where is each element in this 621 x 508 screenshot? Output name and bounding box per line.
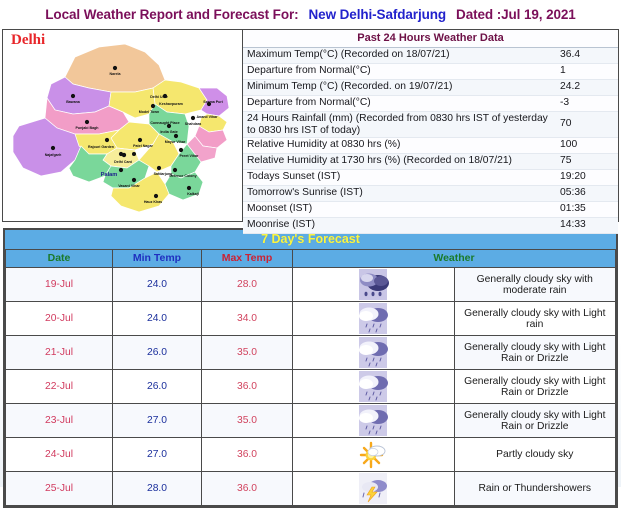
map-label: Bawana — [66, 100, 81, 104]
map-label: Palam — [101, 172, 118, 178]
data-row-value: 19:20 — [558, 171, 618, 183]
table-row: 20-Jul 24.0 34.0 — [6, 302, 616, 336]
past-24h-heading: Past 24 Hours Weather Data — [243, 30, 618, 48]
data-row: Relative Humidity at 0830 hrs (%) 100 — [243, 138, 618, 154]
data-row-value: 36.4 — [558, 49, 618, 61]
table-row: 25-Jul 28.0 36.0 — [6, 472, 616, 506]
map-label: Patel Nagar — [133, 144, 153, 148]
data-row-label: Todays Sunset (IST) — [243, 171, 558, 183]
light-rain-cloud-icon — [356, 303, 390, 334]
map-label: India Gate — [160, 130, 177, 134]
cell-date: 25-Jul — [6, 472, 113, 506]
map-label: Najafgarh — [45, 153, 62, 157]
cell-max-temp: 35.0 — [202, 404, 293, 438]
data-row: Relative Humidity at 1730 hrs (%) (Recor… — [243, 154, 618, 170]
cell-weather-description: Generally cloudy sky with Light Rain or … — [454, 336, 616, 370]
cell-min-temp: 28.0 — [113, 472, 202, 506]
cell-date: 19-Jul — [6, 268, 113, 302]
table-row: 19-Jul 24.0 28.0 — [6, 268, 616, 302]
cell-min-temp: 24.0 — [113, 268, 202, 302]
data-row-value: 100 — [558, 139, 618, 151]
data-row-label: Moonset (IST) — [243, 203, 558, 215]
cell-date: 21-Jul — [6, 336, 113, 370]
cell-weather-icon — [293, 370, 455, 404]
data-row-value: 75 — [558, 155, 618, 167]
map-label: Narela — [110, 72, 122, 76]
cell-min-temp: 27.0 — [113, 404, 202, 438]
data-row: 24 Hours Rainfall (mm) (Recorded from 08… — [243, 112, 618, 138]
cell-weather-icon — [293, 336, 455, 370]
data-row: Departure from Normal(°C) 1 — [243, 64, 618, 80]
map-label: Delhi Cant — [114, 160, 133, 164]
data-row-value: -3 — [558, 97, 618, 109]
column-header-date: Date — [6, 250, 113, 268]
cell-max-temp: 36.0 — [202, 370, 293, 404]
past-24h-panel: Past 24 Hours Weather Data Maximum Temp(… — [243, 29, 619, 222]
data-row-value: 14:33 — [558, 219, 618, 231]
cell-min-temp: 26.0 — [113, 370, 202, 404]
data-row-label: Moonrise (IST) — [243, 219, 558, 231]
data-row: Todays Sunset (IST) 19:20 — [243, 170, 618, 186]
data-row-label: Departure from Normal(°C) — [243, 65, 558, 77]
cell-weather-icon — [293, 268, 455, 302]
cell-date: 23-Jul — [6, 404, 113, 438]
cell-weather-icon — [293, 472, 455, 506]
upper-panel: Delhi — [2, 29, 619, 222]
cell-weather-icon — [293, 302, 455, 336]
data-row-value: 24.2 — [558, 81, 618, 93]
sun-cloud-icon — [356, 439, 390, 470]
cell-weather-description: Generally cloudy sky with Light Rain or … — [454, 370, 616, 404]
forecast-panel: 7 Day's Forecast Date Min Temp Max Temp … — [3, 228, 618, 508]
light-rain-cloud-icon — [356, 337, 390, 368]
data-row: Departure from Normal(°C) -3 — [243, 96, 618, 112]
data-row-label: Relative Humidity at 0830 hrs (%) — [243, 139, 558, 151]
map-label: Anand Vihar — [196, 115, 218, 119]
forecast-body: 19-Jul 24.0 28.0 — [6, 268, 616, 506]
cell-date: 22-Jul — [6, 370, 113, 404]
map-label: Defence Colony — [169, 174, 196, 178]
cell-min-temp: 26.0 — [113, 336, 202, 370]
map-label: Model Town — [139, 110, 160, 114]
cell-min-temp: 27.0 — [113, 438, 202, 472]
data-row-value: 1 — [558, 65, 618, 77]
table-row: 23-Jul 27.0 35.0 — [6, 404, 616, 438]
heavy-rain-cloud-icon — [356, 269, 390, 300]
cell-max-temp: 34.0 — [202, 302, 293, 336]
map-title: Delhi — [11, 32, 45, 49]
cell-weather-description: Generally cloudy sky with Light Rain or … — [454, 404, 616, 438]
map-label: Punjabi Bagh — [76, 126, 99, 130]
cell-date: 20-Jul — [6, 302, 113, 336]
cell-weather-description: Generally cloudy sky with moderate rain — [454, 268, 616, 302]
map-label: Mayur Vihar — [165, 140, 186, 144]
forecast-header-row: Date Min Temp Max Temp Weather — [6, 250, 616, 268]
cell-max-temp: 28.0 — [202, 268, 293, 302]
station-name: New Delhi-Safdarjung — [309, 7, 447, 22]
map-label: Keshavpuram — [159, 102, 183, 106]
table-row: 24-Jul 27.0 36.0 — [6, 438, 616, 472]
delhi-map-panel: Delhi — [2, 29, 243, 222]
map-label: Preet Vihar — [180, 154, 200, 158]
page-title-main: Local Weather Report and Forecast For: — [45, 7, 298, 22]
map-label: Vasant Vihar — [118, 184, 140, 188]
map-label: Kalkaji — [187, 192, 199, 196]
data-row-value: 05:36 — [558, 187, 618, 199]
light-rain-cloud-icon — [356, 371, 390, 402]
map-label: Hauz Khas — [144, 200, 162, 204]
cell-weather-description: Partly cloudy sky — [454, 438, 616, 472]
delhi-district-map-icon: Narela Bawana Najafgarh Punjabi Bagh Raj… — [3, 30, 242, 221]
data-row: Moonset (IST) 01:35 — [243, 202, 618, 218]
cell-weather-description: Generally cloudy sky with Light rain — [454, 302, 616, 336]
cell-max-temp: 36.0 — [202, 438, 293, 472]
column-header-weather: Weather — [293, 250, 616, 268]
table-row: 21-Jul 26.0 35.0 — [6, 336, 616, 370]
data-row: Tomorrow's Sunrise (IST) 05:36 — [243, 186, 618, 202]
cell-weather-icon — [293, 404, 455, 438]
column-header-min-temp: Min Temp — [113, 250, 202, 268]
map-label: Delhi Univ — [150, 95, 168, 99]
data-row: Maximum Temp(°C) (Recorded on 18/07/21) … — [243, 48, 618, 64]
light-rain-cloud-icon — [356, 405, 390, 436]
map-label: Connaught Place — [150, 121, 179, 125]
cell-weather-description: Rain or Thundershowers — [454, 472, 616, 506]
map-label: Rajouri Garden — [88, 145, 114, 149]
cell-min-temp: 24.0 — [113, 302, 202, 336]
data-row-label: Minimum Temp (°C) (Recorded. on 19/07/21… — [243, 81, 558, 93]
data-row: Minimum Temp (°C) (Recorded. on 19/07/21… — [243, 80, 618, 96]
data-row-value: 70 — [558, 118, 618, 130]
forecast-table: Date Min Temp Max Temp Weather 19-Jul 24… — [5, 250, 616, 506]
data-row-label: Relative Humidity at 1730 hrs (%) (Recor… — [243, 155, 558, 167]
report-date: Dated :Jul 19, 2021 — [456, 7, 576, 22]
map-label: Seema Puri — [203, 100, 223, 104]
thunderstorm-icon — [356, 473, 390, 504]
cell-weather-icon — [293, 438, 455, 472]
data-row-value: 01:35 — [558, 203, 618, 215]
cell-date: 24-Jul — [6, 438, 113, 472]
column-header-max-temp: Max Temp — [202, 250, 293, 268]
data-row-label: 24 Hours Rainfall (mm) (Recorded from 08… — [243, 113, 558, 137]
data-row-label: Departure from Normal(°C) — [243, 97, 558, 109]
map-label: Shahdara — [185, 122, 202, 126]
page-title: Local Weather Report and Forecast For: N… — [0, 0, 621, 29]
data-row-label: Tomorrow's Sunrise (IST) — [243, 187, 558, 199]
table-row: 22-Jul 26.0 36.0 — [6, 370, 616, 404]
data-row-label: Maximum Temp(°C) (Recorded on 18/07/21) — [243, 49, 558, 61]
cell-max-temp: 36.0 — [202, 472, 293, 506]
cell-max-temp: 35.0 — [202, 336, 293, 370]
weather-report-page: Local Weather Report and Forecast For: N… — [0, 0, 621, 487]
